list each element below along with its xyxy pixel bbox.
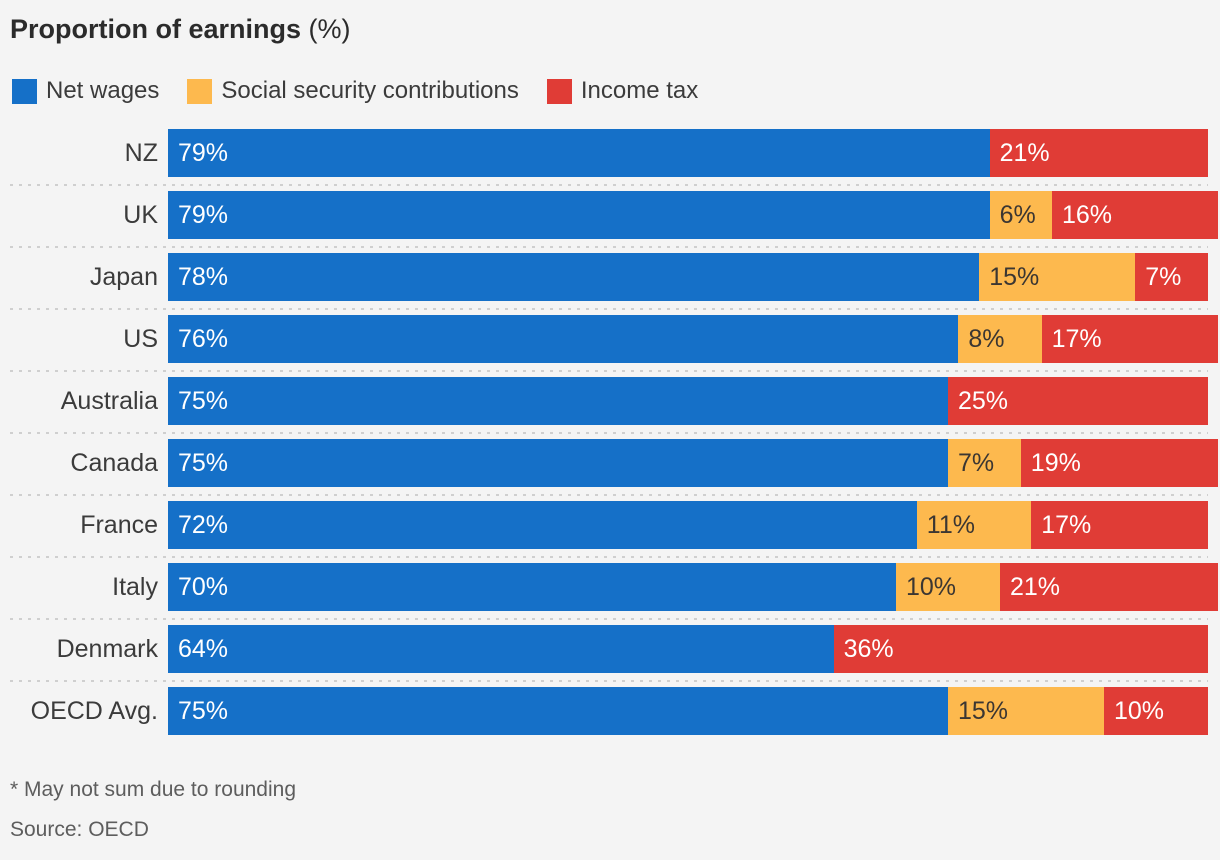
bar-segment-value: 79% bbox=[178, 191, 228, 239]
bar-segment-value: 15% bbox=[989, 253, 1039, 301]
bar-segment-value: 17% bbox=[1052, 315, 1102, 363]
bar-segment-income-tax[interactable]: 36% bbox=[834, 625, 1208, 673]
bar-segment-value: 75% bbox=[178, 377, 228, 425]
bar-segment-value: 11% bbox=[927, 501, 975, 549]
bar-row[interactable]: Japan78%15%7% bbox=[0, 253, 1220, 301]
bar-segment-income-tax[interactable]: 21% bbox=[990, 129, 1208, 177]
row-separator bbox=[10, 184, 1208, 186]
bar-segment-value: 70% bbox=[178, 563, 228, 611]
bar-segment-value: 10% bbox=[906, 563, 956, 611]
bar-segment-value: 16% bbox=[1062, 191, 1112, 239]
bar-segment-net-wages[interactable]: 75% bbox=[168, 687, 948, 735]
bar-row-label: Italy bbox=[0, 563, 158, 611]
bar-track: 78%15%7% bbox=[168, 253, 1208, 301]
bar-segment-social-security-contributions[interactable]: 7% bbox=[948, 439, 1021, 487]
bar-segment-income-tax[interactable]: 17% bbox=[1042, 315, 1219, 363]
bar-segment-value: 15% bbox=[958, 687, 1008, 735]
chart-plot-area: NZ79%21%UK79%6%16%Japan78%15%7%US76%8%17… bbox=[0, 129, 1220, 743]
page-title: Proportion of earnings (%) bbox=[10, 12, 351, 46]
bar-row-label: OECD Avg. bbox=[0, 687, 158, 735]
legend-swatch-income-tax bbox=[547, 79, 572, 104]
legend-item-income-tax[interactable]: Income tax bbox=[547, 78, 698, 104]
bar-segment-net-wages[interactable]: 64% bbox=[168, 625, 834, 673]
bar-segment-value: 7% bbox=[1145, 253, 1181, 301]
row-separator bbox=[10, 308, 1208, 310]
bar-track: 75%15%10% bbox=[168, 687, 1208, 735]
bar-row-label: Denmark bbox=[0, 625, 158, 673]
chart-legend: Net wagesSocial security contributionsIn… bbox=[12, 74, 726, 108]
bar-row[interactable]: US76%8%17% bbox=[0, 315, 1220, 363]
bar-segment-net-wages[interactable]: 79% bbox=[168, 191, 990, 239]
bar-row-label: NZ bbox=[0, 129, 158, 177]
bar-segment-value: 21% bbox=[1000, 129, 1050, 177]
row-separator bbox=[10, 680, 1208, 682]
bar-segment-social-security-contributions[interactable]: 15% bbox=[979, 253, 1135, 301]
bar-track: 79%21% bbox=[168, 129, 1208, 177]
bar-segment-value: 36% bbox=[844, 625, 894, 673]
bar-track: 75%25% bbox=[168, 377, 1208, 425]
row-separator bbox=[10, 556, 1208, 558]
footnote-source: Source: OECD bbox=[10, 810, 1210, 850]
row-separator bbox=[10, 432, 1208, 434]
legend-label-social-security-contributions: Social security contributions bbox=[221, 78, 518, 104]
row-separator bbox=[10, 370, 1208, 372]
bar-segment-value: 25% bbox=[958, 377, 1008, 425]
bar-segment-income-tax[interactable]: 17% bbox=[1031, 501, 1208, 549]
bar-row-label: UK bbox=[0, 191, 158, 239]
bar-segment-income-tax[interactable]: 21% bbox=[1000, 563, 1218, 611]
bar-track: 72%11%17% bbox=[168, 501, 1208, 549]
row-separator bbox=[10, 618, 1208, 620]
bar-row[interactable]: Italy70%10%21% bbox=[0, 563, 1220, 611]
bar-row-label: Japan bbox=[0, 253, 158, 301]
bar-track: 75%7%19% bbox=[168, 439, 1208, 487]
bar-segment-net-wages[interactable]: 70% bbox=[168, 563, 896, 611]
bar-segment-income-tax[interactable]: 16% bbox=[1052, 191, 1218, 239]
bar-segment-value: 8% bbox=[968, 315, 1004, 363]
footnote-rounding: * May not sum due to rounding bbox=[10, 770, 1210, 810]
bar-segment-value: 75% bbox=[178, 687, 228, 735]
bar-segment-income-tax[interactable]: 19% bbox=[1021, 439, 1219, 487]
bar-row[interactable]: France72%11%17% bbox=[0, 501, 1220, 549]
bar-row-label: Australia bbox=[0, 377, 158, 425]
bar-segment-social-security-contributions[interactable]: 15% bbox=[948, 687, 1104, 735]
bar-segment-net-wages[interactable]: 75% bbox=[168, 377, 948, 425]
bar-segment-value: 10% bbox=[1114, 687, 1164, 735]
legend-item-net-wages[interactable]: Net wages bbox=[12, 78, 159, 104]
bar-row[interactable]: Australia75%25% bbox=[0, 377, 1220, 425]
bar-segment-value: 78% bbox=[178, 253, 228, 301]
bar-row[interactable]: NZ79%21% bbox=[0, 129, 1220, 177]
bar-segment-value: 7% bbox=[958, 439, 994, 487]
bar-segment-value: 64% bbox=[178, 625, 228, 673]
bar-row-label: US bbox=[0, 315, 158, 363]
bar-segment-net-wages[interactable]: 78% bbox=[168, 253, 979, 301]
bar-segment-value: 21% bbox=[1010, 563, 1060, 611]
chart-footer: * May not sum due to rounding Source: OE… bbox=[10, 770, 1210, 850]
bar-segment-social-security-contributions[interactable]: 10% bbox=[896, 563, 1000, 611]
bar-segment-value: 75% bbox=[178, 439, 228, 487]
bar-segment-net-wages[interactable]: 75% bbox=[168, 439, 948, 487]
bar-track: 79%6%16% bbox=[168, 191, 1208, 239]
page-title-suffix: (%) bbox=[301, 14, 351, 44]
legend-item-social-security-contributions[interactable]: Social security contributions bbox=[187, 78, 518, 104]
legend-swatch-net-wages bbox=[12, 79, 37, 104]
bar-row[interactable]: Denmark64%36% bbox=[0, 625, 1220, 673]
bar-track: 76%8%17% bbox=[168, 315, 1208, 363]
bar-row-label: France bbox=[0, 501, 158, 549]
bar-segment-net-wages[interactable]: 79% bbox=[168, 129, 990, 177]
bar-segment-value: 79% bbox=[178, 129, 228, 177]
bar-segment-value: 6% bbox=[1000, 191, 1036, 239]
bar-segment-social-security-contributions[interactable]: 6% bbox=[990, 191, 1052, 239]
bar-row[interactable]: OECD Avg.75%15%10% bbox=[0, 687, 1220, 735]
bar-segment-income-tax[interactable]: 25% bbox=[948, 377, 1208, 425]
legend-label-net-wages: Net wages bbox=[46, 78, 159, 104]
bar-row[interactable]: Canada75%7%19% bbox=[0, 439, 1220, 487]
legend-swatch-social-security-contributions bbox=[187, 79, 212, 104]
bar-segment-value: 76% bbox=[178, 315, 228, 363]
bar-segment-social-security-contributions[interactable]: 8% bbox=[958, 315, 1041, 363]
bar-track: 70%10%21% bbox=[168, 563, 1208, 611]
bar-segment-net-wages[interactable]: 76% bbox=[168, 315, 958, 363]
page-title-main: Proportion of earnings bbox=[10, 14, 301, 44]
bar-segment-social-security-contributions[interactable]: 11% bbox=[917, 501, 1031, 549]
bar-track: 64%36% bbox=[168, 625, 1208, 673]
row-separator bbox=[10, 246, 1208, 248]
row-separator bbox=[10, 494, 1208, 496]
bar-segment-net-wages[interactable]: 72% bbox=[168, 501, 917, 549]
bar-row-label: Canada bbox=[0, 439, 158, 487]
bar-row[interactable]: UK79%6%16% bbox=[0, 191, 1220, 239]
bar-segment-income-tax[interactable]: 10% bbox=[1104, 687, 1208, 735]
bar-segment-value: 17% bbox=[1041, 501, 1091, 549]
bar-segment-value: 72% bbox=[178, 501, 228, 549]
bar-segment-value: 19% bbox=[1031, 439, 1081, 487]
bar-segment-income-tax[interactable]: 7% bbox=[1135, 253, 1208, 301]
legend-label-income-tax: Income tax bbox=[581, 78, 698, 104]
